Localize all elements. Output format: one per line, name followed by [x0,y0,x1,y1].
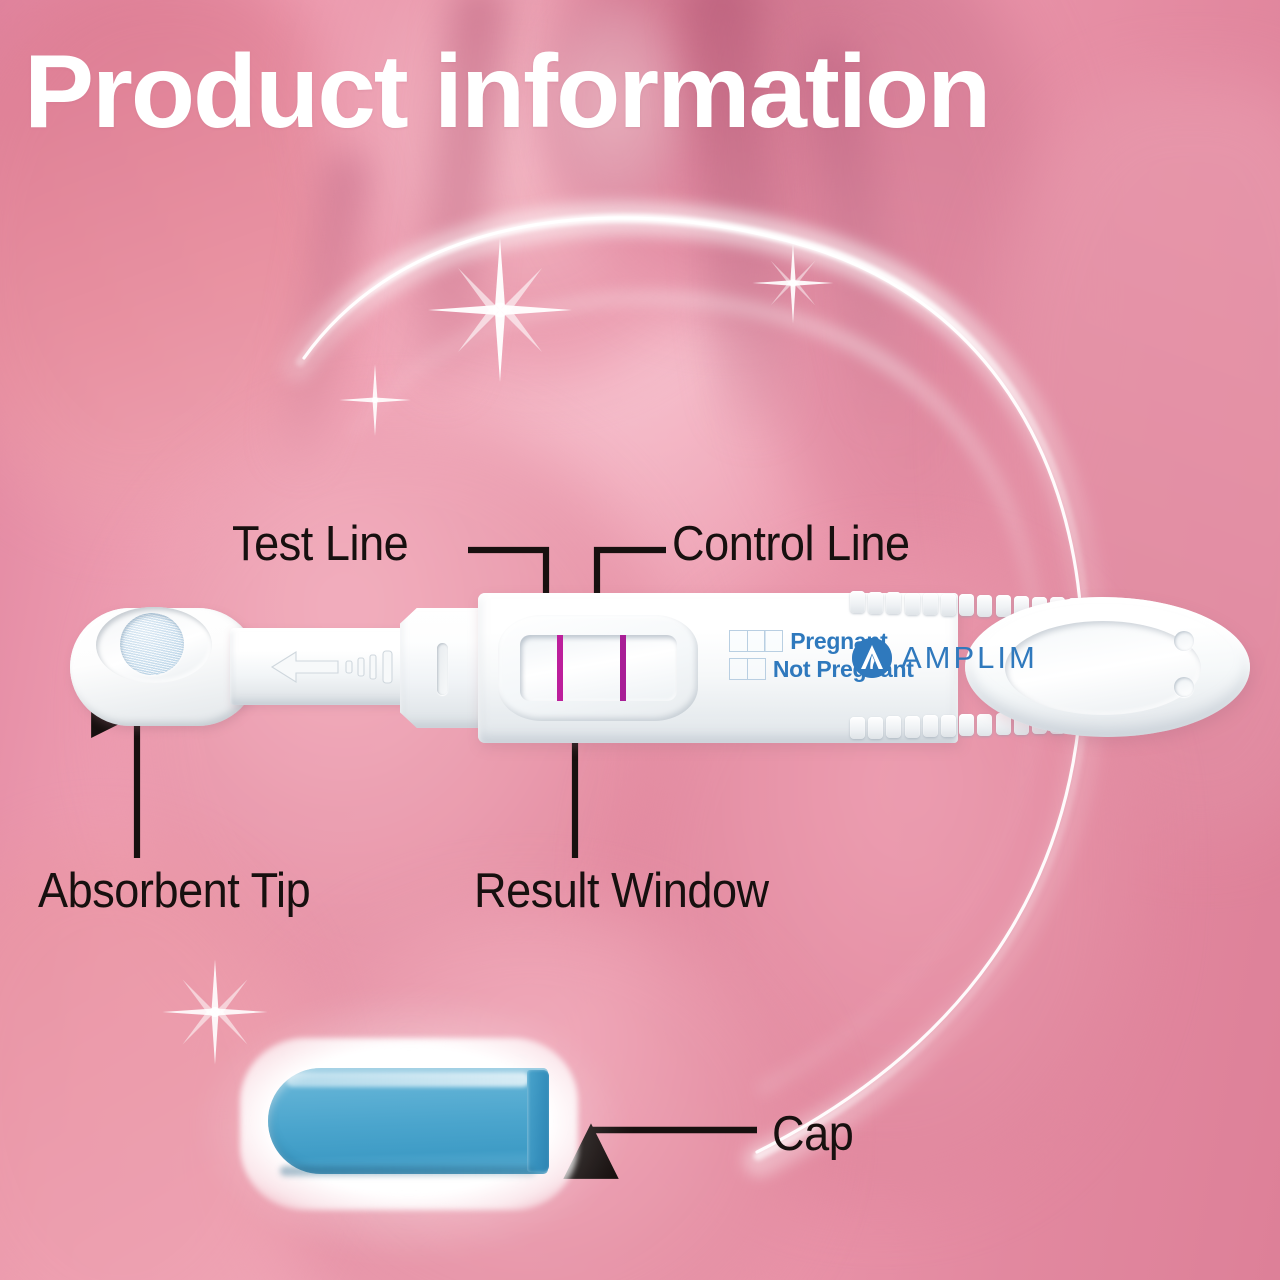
callout-label-control-line: Control Line [672,516,910,572]
cap-part [268,1068,548,1174]
grip-ridge [923,715,938,737]
grip-ridge [886,592,901,614]
grip-ridge [977,595,992,617]
grip-ridge [941,594,956,616]
amplim-logo-icon [852,638,892,678]
test-line-indicator [557,635,563,701]
callout-label-test-line: Test Line [232,516,408,572]
grip-ridge [905,593,920,615]
pregnant-cells-icon [731,630,783,652]
grip-ridge [923,593,938,615]
grip-ridge [886,716,901,738]
handle-dot-upper [1174,631,1194,651]
grip-ridge [850,591,865,613]
grip-ridge [850,717,865,739]
stick-notch [437,643,448,695]
flow-direction-arrow-icon [270,645,400,689]
grip-ridge [941,715,956,737]
handle-dot-lower [1174,677,1194,697]
grip-ridge [868,717,883,739]
callout-label-result-window: Result Window [474,863,769,919]
result-window [520,635,677,701]
absorbent-tip-pad [120,613,184,675]
grip-ridge [959,714,974,736]
product-information-graphic: Product information [0,0,1280,1280]
grip-ridge [996,595,1011,617]
grip-ridge [905,716,920,738]
pregnancy-test-stick: Pregnant Not Pregnant [70,585,1250,760]
not-pregnant-cells-icon [731,658,766,680]
callout-label-absorbent-tip: Absorbent Tip [38,863,310,919]
callout-label-cap: Cap [772,1106,853,1162]
grip-ridge [959,594,974,616]
amplim-brand: AMPLIM [852,638,1038,678]
grip-ridge [868,592,883,614]
control-line-indicator [620,635,626,701]
amplim-wordmark: AMPLIM [901,640,1038,676]
grip-ridge [977,714,992,736]
